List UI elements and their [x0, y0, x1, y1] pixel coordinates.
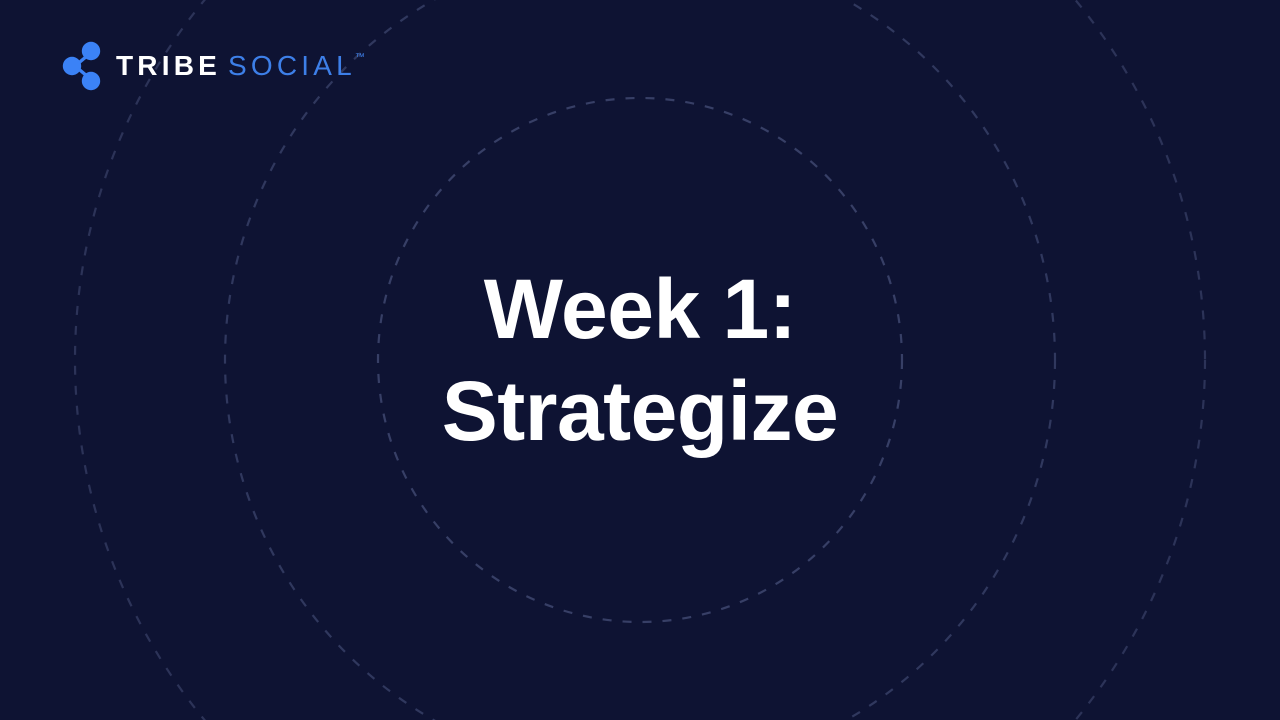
- slide-title-line-2: Strategize: [442, 369, 838, 453]
- slide-title-block: Week 1: Strategize: [0, 0, 1280, 720]
- presentation-slide: TRIBE SOCIAL ™ Week 1: Strategize: [0, 0, 1280, 720]
- slide-title-line-1: Week 1:: [484, 267, 796, 351]
